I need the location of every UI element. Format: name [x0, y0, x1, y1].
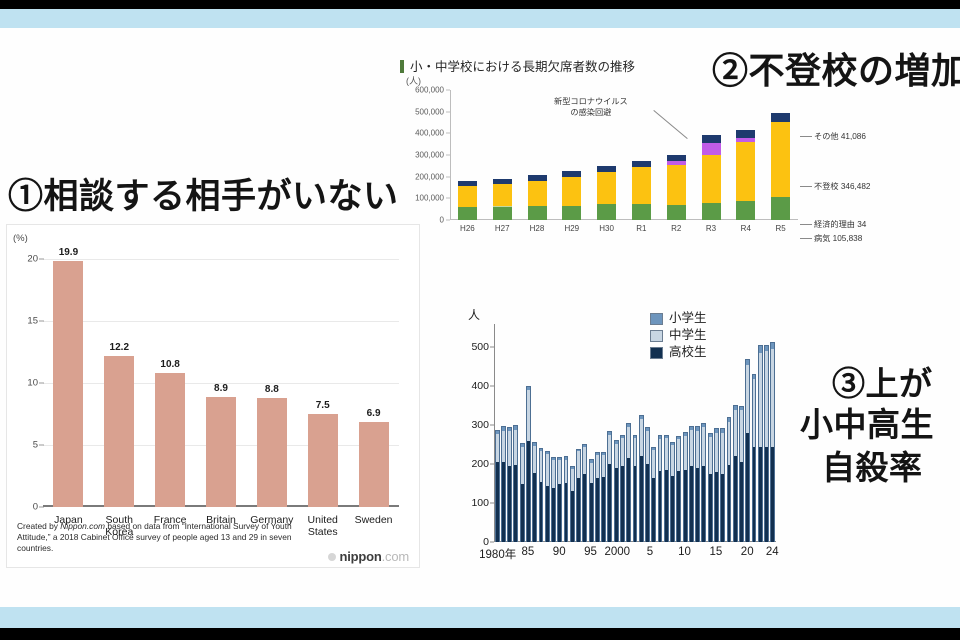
chart3-bar-segment-中学生 [639, 419, 644, 456]
chart2-stacked-bar [562, 171, 581, 220]
chart2-bar-segment-病気 [632, 204, 651, 220]
chart3-stacked-bar [651, 447, 656, 542]
chart3-stacked-bar [576, 449, 581, 542]
chart1-y-tick [39, 259, 44, 260]
chart1-bar-value-label: 8.9 [194, 383, 248, 394]
chart2-bar-segment-不登校 [736, 142, 755, 201]
chart2-stacked-bar [667, 155, 686, 220]
chart3-bar-segment-中学生 [532, 446, 537, 472]
chart1-y-unit-label: (%) [13, 233, 28, 244]
chart1-source-note: Created by Nippon.com based on data from… [17, 521, 307, 554]
chart3-stacked-bar [570, 466, 575, 542]
chart3-stacked-bar [701, 423, 706, 542]
chart3-bar-segment-中学生 [695, 431, 700, 468]
chart1-bar-value-label: 7.5 [296, 400, 350, 411]
chart3-y-tick-label: 300 [471, 419, 489, 431]
logo-dot-icon [328, 553, 336, 561]
chart2-bar-segment-不登校 [458, 186, 477, 207]
chart1-gridline [43, 321, 399, 322]
chart2-y-tick-label: 300,000 [415, 151, 444, 160]
chart3-bar-segment-高校生 [701, 466, 706, 542]
chart2-title-text: 小・中学校における長期欠席者数の推移 [410, 59, 635, 74]
chart2-bar-segment-不登校 [667, 165, 686, 204]
chart3-stacked-bar [633, 435, 638, 542]
chart3-bar-segment-中学生 [683, 436, 688, 470]
chart3-bar-segment-高校生 [589, 483, 594, 542]
chart3-bar-segment-高校生 [714, 472, 719, 542]
chart1-bar [155, 373, 185, 507]
chart3-bar-segment-高校生 [733, 456, 738, 542]
chart3-bar-segment-小学生 [770, 342, 775, 350]
chart3-legend-item: 中学生 [650, 327, 707, 344]
chart3-stacked-bar [758, 345, 763, 542]
chart3-bar-segment-中学生 [739, 410, 744, 463]
annotation-line1: 新型コロナウイルス [554, 96, 628, 107]
chart2-y-tick [446, 176, 450, 177]
chart3-bar-segment-小学生 [758, 345, 763, 353]
chart3-x-tick-label: 24 [766, 546, 779, 558]
chart3-bar-segment-中学生 [570, 469, 575, 492]
chart3-stacked-bar [708, 433, 713, 542]
chart2-stacked-bar [632, 161, 651, 220]
chart1-source-brand: Nippon.com [60, 521, 105, 531]
chart2-callout-leader-line [800, 224, 812, 225]
chart2-bar-segment-不登校 [771, 122, 790, 197]
chart2-stacked-bar [736, 130, 755, 220]
chart3-bar-segment-中学生 [601, 455, 606, 476]
chart3-bar-segment-中学生 [507, 431, 512, 466]
chart3-stacked-bar [526, 386, 531, 542]
chart3-bar-segment-中学生 [633, 438, 638, 466]
chart2-stacked-bar [597, 166, 616, 220]
chart3-stacked-bar [513, 425, 518, 542]
chart3-bar-segment-高校生 [513, 465, 518, 542]
chart3-bar-segment-高校生 [607, 464, 612, 542]
chart3-legend-item: 高校生 [650, 344, 707, 361]
chart2-bar-segment-その他 [736, 130, 755, 138]
chart2-x-tick-label: H26 [450, 224, 484, 233]
chart3-y-tick [490, 386, 494, 387]
chart2-y-tick [446, 90, 450, 91]
chart3-bar-segment-高校生 [683, 470, 688, 542]
chart2-bar-segment-病気 [562, 206, 581, 220]
chart3-bar-segment-高校生 [595, 478, 600, 542]
chart3-stacked-bar [645, 427, 650, 542]
chart3-y-tick-label: 400 [471, 380, 489, 392]
chart3-bar-segment-中学生 [745, 365, 750, 433]
chart3-stacked-bar [595, 452, 600, 542]
chart3-stacked-bar [670, 442, 675, 542]
chart3-bar-segment-高校生 [601, 477, 606, 542]
chart3-y-tick-label: 500 [471, 341, 489, 353]
heading-suicide-line3: 自殺率 [822, 441, 923, 489]
chart2-callout-leader-line [800, 186, 812, 187]
chart1-y-tick [39, 383, 44, 384]
chart2-bar-segment-病気 [771, 197, 790, 220]
chart3-bar-segment-高校生 [664, 470, 669, 542]
chart1-bar-value-label: 12.2 [92, 342, 146, 353]
chart1-category-label: Sweden [343, 514, 405, 526]
chart3-stacked-bar [745, 359, 750, 542]
chart1-bar [308, 414, 338, 507]
chart3-bar-segment-中学生 [727, 422, 732, 465]
chart1-bar [53, 261, 83, 507]
chart3-bar-segment-高校生 [576, 478, 581, 542]
chart3-bar-segment-中学生 [770, 349, 775, 446]
chart3-stacked-bar [695, 426, 700, 542]
chart3-stacked-bar [658, 435, 663, 542]
chart1-bar-value-label: 19.9 [41, 247, 95, 258]
slide-frame-top-blue-band [0, 9, 960, 28]
chart2-y-tick-label: 600,000 [415, 86, 444, 95]
chart3-bar-segment-高校生 [501, 462, 506, 542]
chart3-bar-segment-中学生 [576, 451, 581, 477]
chart1-bar-value-label: 10.8 [143, 359, 197, 370]
chart2-x-tick-label: H30 [590, 224, 624, 233]
chart3-stacked-bar [557, 457, 562, 542]
chart2-stacked-bar [493, 179, 512, 220]
chart3-bar-segment-高校生 [670, 476, 675, 542]
chart3-bar-segment-中学生 [708, 437, 713, 474]
chart3-bar-segment-中学生 [595, 455, 600, 478]
chart2-right-callout-病気: 病気 105,838 [814, 232, 862, 244]
chart3-bar-segment-中学生 [495, 434, 500, 462]
chart2-callout-leader-line [800, 136, 812, 137]
chart3-bar-segment-高校生 [545, 486, 550, 542]
chart3-legend-swatch [650, 330, 663, 342]
chart3-y-tick [490, 347, 494, 348]
chart3-bar-segment-中学生 [551, 460, 556, 488]
chart3-y-tick [490, 425, 494, 426]
chart3-x-tick-label: 15 [709, 546, 722, 558]
chart3-stacked-bar [607, 431, 612, 542]
chart2-x-tick-label: R5 [764, 224, 798, 233]
chart2-bar-segment-病気 [702, 203, 721, 220]
chart3-bar-segment-高校生 [695, 468, 700, 542]
chart2-bar-segment-病気 [597, 204, 616, 220]
chart3-bar-segment-高校生 [633, 466, 638, 542]
chart3-plot-area: 01002003004005001980年8590952000510152024 [494, 324, 776, 542]
chart1-bar-value-label: 8.8 [245, 384, 299, 395]
chart3-bar-segment-高校生 [614, 468, 619, 542]
chart3-stacked-bar [589, 459, 594, 542]
chart2-x-tick-label: H29 [555, 224, 589, 233]
chart3-legend-swatch [650, 313, 663, 325]
chart-youth-no-consult-card: (%)0510152019.9Japan12.2SouthKorea10.8Fr… [6, 224, 420, 568]
chart3-stacked-bar [664, 435, 669, 542]
chart3-bar-segment-中学生 [714, 433, 719, 472]
chart1-gridline [43, 259, 399, 260]
chart3-stacked-bar [532, 442, 537, 542]
chart3-stacked-bar [683, 432, 688, 542]
nippon-com-logo: nippon.com [328, 549, 410, 564]
chart1-y-tick-label: 20 [27, 254, 38, 265]
chart3-bar-segment-高校生 [708, 474, 713, 542]
chart3-bar-segment-中学生 [539, 451, 544, 481]
chart2-bar-segment-病気 [667, 205, 686, 220]
chart3-stacked-bar [520, 443, 525, 542]
logo-tld: .com [382, 549, 409, 564]
chart3-bar-segment-中学生 [607, 435, 612, 464]
chart2-y-tick [446, 220, 450, 221]
chart3-stacked-bar [614, 440, 619, 542]
chart2-y-tick [446, 198, 450, 199]
chart2-y-tick-label: 500,000 [415, 107, 444, 116]
chart3-bar-segment-高校生 [507, 466, 512, 542]
chart2-bar-segment-不登校 [702, 155, 721, 203]
chart3-stacked-bar [714, 428, 719, 542]
chart3-bar-segment-高校生 [689, 466, 694, 542]
chart3-bar-segment-高校生 [582, 474, 587, 542]
chart3-bar-segment-中学生 [670, 445, 675, 475]
chart3-bar-segment-高校生 [658, 471, 663, 542]
chart3-x-tick-label: 85 [521, 546, 534, 558]
chart1-bar [257, 398, 287, 507]
chart3-bar-segment-中学生 [589, 463, 594, 483]
chart3-bar-segment-中学生 [658, 439, 663, 471]
chart2-bar-segment-その他 [702, 135, 721, 143]
chart1-y-tick [39, 445, 44, 446]
chart3-bar-segment-高校生 [727, 465, 732, 542]
chart3-bar-segment-高校生 [739, 462, 744, 542]
chart3-bar-segment-中学生 [701, 427, 706, 466]
chart3-stacked-bar [752, 374, 757, 542]
chart3-bar-segment-高校生 [551, 488, 556, 542]
chart3-bar-segment-中学生 [620, 438, 625, 466]
chart3-stacked-bar [689, 426, 694, 542]
chart3-bar-segment-高校生 [639, 456, 644, 542]
chart3-bar-segment-中学生 [545, 454, 550, 486]
slide-frame-bottom-blue-band [0, 607, 960, 628]
chart3-bar-segment-中学生 [720, 433, 725, 474]
chart3-stacked-bar [626, 423, 631, 542]
chart1-y-tick-label: 15 [27, 316, 38, 327]
chart3-bar-segment-中学生 [526, 390, 531, 441]
chart2-bar-segment-不登校 [493, 184, 512, 207]
chart2-y-tick [446, 133, 450, 134]
chart2-title: 小・中学校における長期欠席者数の推移 [400, 56, 635, 75]
chart2-stacked-bar [458, 181, 477, 220]
chart2-bar-segment-その他 [771, 113, 790, 122]
chart2-y-tick-label: 100,000 [415, 194, 444, 203]
chart3-bar-segment-高校生 [720, 474, 725, 542]
chart2-bar-segment-病気 [528, 206, 547, 220]
chart3-stacked-bar [507, 427, 512, 542]
chart2-y-tick [446, 155, 450, 156]
chart2-annotation-covid: 新型コロナウイルス の感染回避 [554, 96, 628, 118]
chart3-bar-segment-高校生 [645, 464, 650, 542]
chart2-bar-segment-不登校 [632, 167, 651, 204]
chart2-x-tick-label: H28 [520, 224, 554, 233]
annotation-line2: の感染回避 [554, 107, 628, 118]
chart2-callout-leader-line [800, 238, 812, 239]
chart3-bar-segment-中学生 [651, 450, 656, 478]
chart3-x-tick-label: 90 [553, 546, 566, 558]
chart2-x-tick-label: R1 [624, 224, 658, 233]
chart3-x-tick-label: 10 [678, 546, 691, 558]
chart2-bar-segment-病気 [736, 201, 755, 220]
chart3-bar-segment-高校生 [626, 458, 631, 542]
chart3-y-tick-label: 200 [471, 458, 489, 470]
chart3-bar-segment-中学生 [626, 427, 631, 458]
chart3-bar-segment-中学生 [614, 444, 619, 468]
chart3-stacked-bar [582, 444, 587, 542]
chart3-stacked-bar [545, 451, 550, 542]
chart1-bar-value-label: 6.9 [347, 408, 401, 419]
chart2-bar-segment-不登校 [597, 172, 616, 204]
chart3-y-unit-label: 人 [468, 306, 480, 323]
chart3-bar-segment-中学生 [733, 410, 738, 457]
chart2-stacked-bar [702, 135, 721, 220]
chart3-bar-segment-高校生 [676, 471, 681, 542]
chart3-legend-label: 中学生 [669, 327, 707, 344]
chart3-bar-segment-高校生 [570, 491, 575, 542]
chart1-bar [104, 356, 134, 507]
chart3-bar-segment-高校生 [520, 484, 525, 542]
chart3-bar-segment-高校生 [564, 483, 569, 542]
chart3-bar-segment-中学生 [752, 379, 757, 447]
chart1-bar [359, 422, 389, 507]
chart2-x-tick-label: R4 [729, 224, 763, 233]
heading-suicide-line2: 小中高生 [800, 398, 934, 446]
chart3-y-tick [490, 503, 494, 504]
chart3-stacked-bar [564, 456, 569, 542]
chart1-y-tick-label: 5 [33, 440, 38, 451]
chart3-stacked-bar [733, 405, 738, 542]
chart3-x-tick-label: 95 [584, 546, 597, 558]
chart3-y-tick [490, 464, 494, 465]
chart3-y-tick [490, 542, 494, 543]
chart3-bar-segment-中学生 [764, 351, 769, 446]
chart2-x-tick-label: H27 [485, 224, 519, 233]
chart2-y-tick-label: 200,000 [415, 172, 444, 181]
chart1-plot-area: (%)0510152019.9Japan12.2SouthKorea10.8Fr… [43, 247, 399, 507]
chart3-bar-segment-高校生 [532, 473, 537, 542]
chart3-legend-swatch [650, 347, 663, 359]
chart-long-absence-wrap: 小・中学校における長期欠席者数の推移 (人) 0100,000200,00030… [392, 52, 960, 247]
chart3-bar-segment-高校生 [758, 447, 763, 542]
chart2-bar-segment-病気 [493, 207, 512, 220]
chart3-legend-item: 小学生 [650, 310, 707, 327]
chart3-bar-segment-高校生 [526, 441, 531, 542]
chart2-bar-segment-病気 [458, 207, 477, 220]
chart3-bar-segment-中学生 [664, 438, 669, 469]
chart2-right-callout-不登校: 不登校 346,482 [814, 180, 870, 192]
chart3-bar-segment-中学生 [582, 447, 587, 473]
chart2-right-callout-経済的理由: 経済的理由 34 [814, 218, 866, 230]
title-bullet-icon [400, 60, 404, 73]
chart3-bar-segment-高校生 [764, 447, 769, 542]
chart3-bar-segment-中学生 [689, 430, 694, 466]
chart2-stacked-bar [771, 113, 790, 220]
chart2-bar-segment-不登校 [562, 177, 581, 206]
chart3-stacked-bar [601, 452, 606, 542]
chart3-stacked-bar [764, 345, 769, 542]
chart3-stacked-bar [770, 342, 775, 542]
chart2-y-tick-label: 0 [440, 216, 444, 225]
chart2-bar-segment-新型コロナ [702, 143, 721, 156]
chart3-bar-segment-中学生 [501, 431, 506, 462]
chart3-bar-segment-高校生 [770, 447, 775, 542]
chart2-stacked-bar [528, 175, 547, 220]
chart3-bar-segment-高校生 [651, 478, 656, 542]
chart3-bar-segment-中学生 [564, 460, 569, 483]
chart2-y-tick-label: 400,000 [415, 129, 444, 138]
chart3-x-tick-label: 5 [647, 546, 653, 558]
chart3-x-tick-label: 1980年 [479, 546, 516, 562]
chart3-legend-label: 高校生 [669, 344, 707, 361]
chart3-bar-segment-高校生 [620, 466, 625, 542]
chart3-bar-segment-中学生 [758, 353, 763, 446]
chart3-stacked-bar [676, 436, 681, 542]
slide-frame-bottom-black-bar [0, 628, 960, 640]
chart2-y-tick [446, 111, 450, 112]
chart3-bar-segment-中学生 [676, 439, 681, 471]
chart3-stacked-bar [727, 417, 732, 542]
chart3-stacked-bar [739, 406, 744, 542]
chart3-bar-segment-高校生 [539, 482, 544, 542]
chart3-bar-segment-高校生 [557, 484, 562, 542]
chart3-bar-segment-中学生 [513, 430, 518, 466]
chart2-y-axis-line [450, 90, 451, 220]
chart1-y-tick-label: 0 [33, 502, 38, 513]
chart1-bar [206, 397, 236, 507]
chart3-stacked-bar [639, 415, 644, 542]
chart-student-suicides-wrap: 人 01002003004005001980年85909520005101520… [458, 300, 808, 590]
chart3-stacked-bar [539, 448, 544, 542]
chart2-x-tick-label: R2 [659, 224, 693, 233]
chart3-y-tick-label: 100 [471, 497, 489, 509]
chart3-stacked-bar [495, 430, 500, 542]
chart2-bar-segment-不登校 [528, 181, 547, 206]
chart3-bar-segment-高校生 [752, 447, 757, 542]
chart3-x-tick-label: 20 [741, 546, 754, 558]
chart3-stacked-bar [620, 435, 625, 542]
chart3-bar-segment-中学生 [645, 431, 650, 464]
chart2-right-callout-その他: その他 41,086 [814, 130, 866, 142]
logo-name: nippon [340, 549, 382, 564]
chart3-bar-segment-中学生 [557, 460, 562, 483]
chart3-legend: 小学生中学生高校生 [650, 310, 707, 361]
chart2-x-tick-label: R3 [694, 224, 728, 233]
chart3-bar-segment-高校生 [745, 433, 750, 542]
chart3-legend-label: 小学生 [669, 310, 707, 327]
chart3-bar-segment-高校生 [495, 462, 500, 542]
chart3-stacked-bar [551, 457, 556, 542]
chart3-stacked-bar [720, 428, 725, 542]
slide-frame-top-black-bar [0, 0, 960, 9]
chart3-x-tick-label: 2000 [604, 546, 630, 558]
chart1-y-tick [39, 321, 44, 322]
chart1-y-tick-label: 10 [27, 378, 38, 389]
chart3-bar-segment-中学生 [520, 447, 525, 484]
heading-no-one-to-consult: ①相談する相手がいない [8, 168, 399, 219]
chart3-stacked-bar [501, 426, 506, 542]
